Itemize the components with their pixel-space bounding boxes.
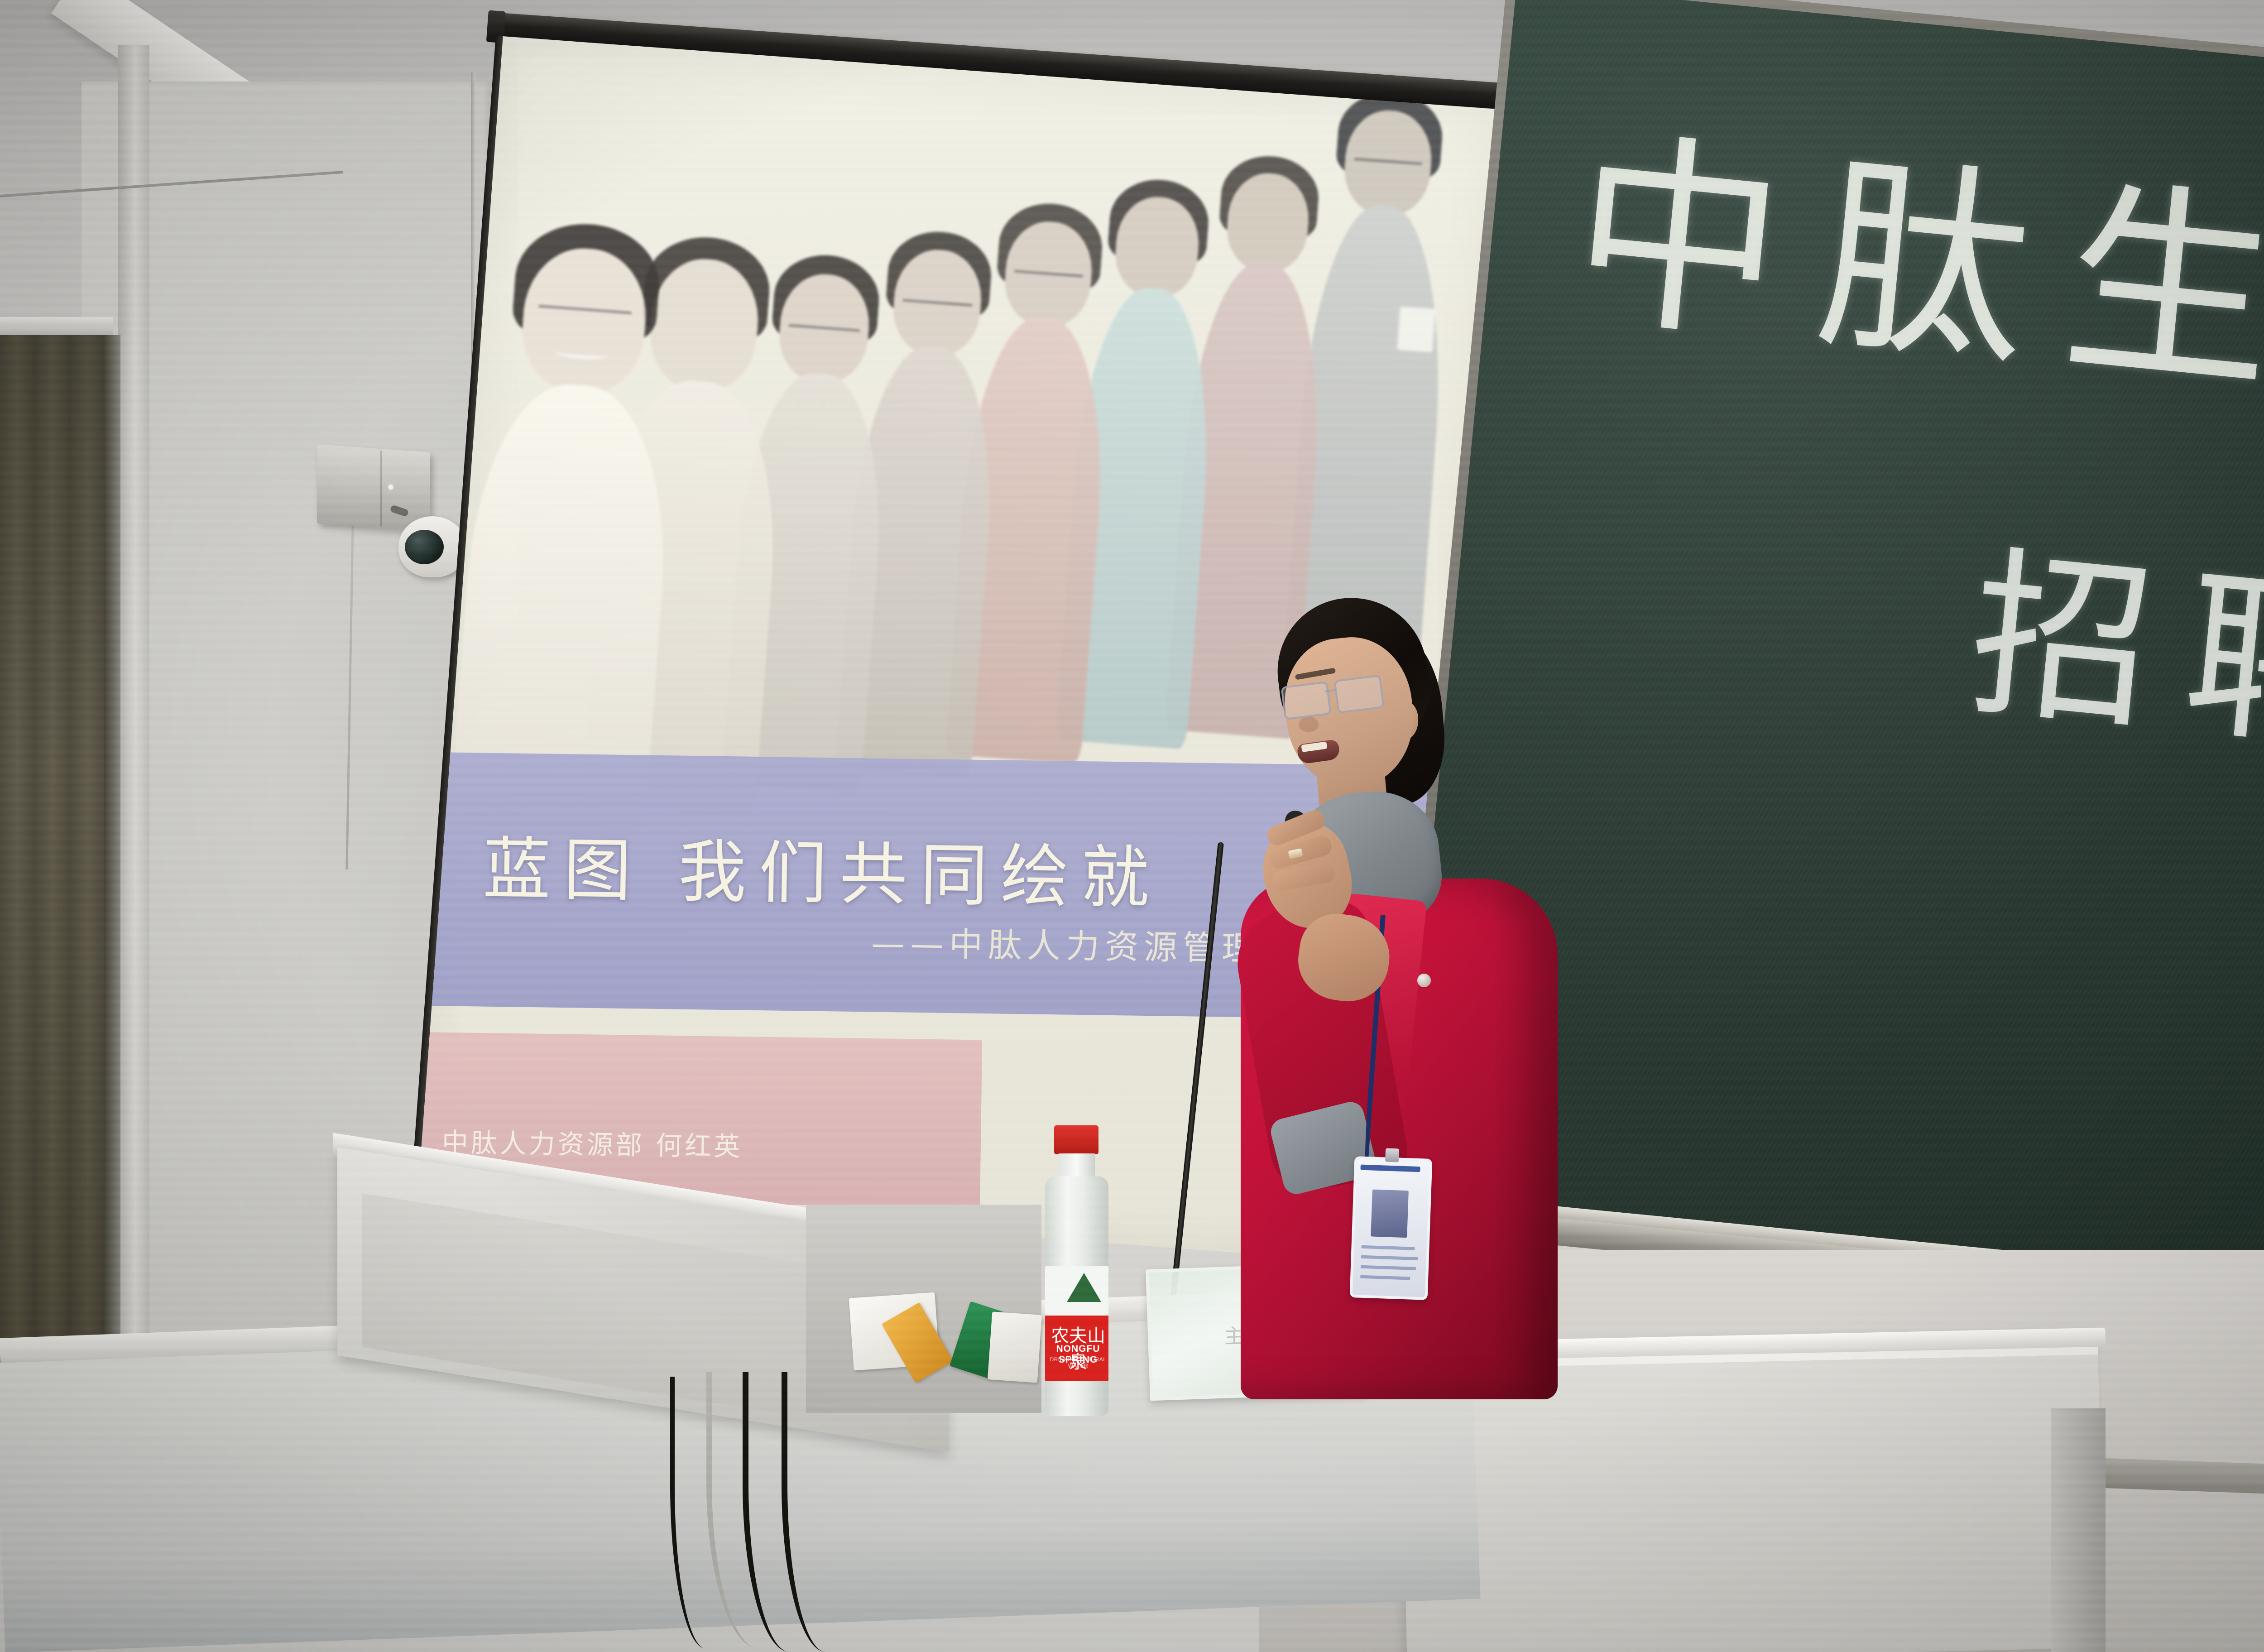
badge-text-line	[1361, 1265, 1416, 1270]
coat-button	[1417, 974, 1431, 987]
status-led-icon	[389, 485, 393, 490]
badge-clip-icon	[1385, 1148, 1399, 1162]
window-curtain[interactable]	[0, 335, 104, 1426]
mountain-logo-icon	[1067, 1273, 1101, 1302]
presenter	[1223, 598, 1657, 1395]
camera-housing-box	[317, 444, 430, 531]
bottle-brand-sub: DRINKING NATURAL WATER	[1048, 1356, 1108, 1369]
water-bottle[interactable]: 农夫山泉 NONGFU SPRING DRINKING NATURAL WATE…	[1037, 1125, 1116, 1415]
wall-pillar	[118, 45, 149, 1426]
classroom-photo: 蓝图 我们共同绘就 ——中肽人力资源管理 中肽人力资源部 何红英 中肽生化 招聘	[0, 0, 2264, 1652]
presenter-teeth	[1301, 741, 1328, 752]
slide-title: 蓝图 我们共同绘就	[482, 836, 1162, 913]
bottle-cap[interactable]	[1054, 1125, 1098, 1154]
slide-subtitle: ——中肽人力资源管理	[871, 927, 1261, 966]
paper-box-white-2[interactable]	[988, 1311, 1042, 1383]
employee-id-badge	[1350, 1156, 1433, 1300]
badge-photo	[1371, 1190, 1409, 1238]
badge-text-line	[1361, 1255, 1418, 1260]
housing-seam	[380, 451, 382, 526]
bottle-label: 农夫山泉 NONGFU SPRING DRINKING NATURAL WATE…	[1045, 1266, 1108, 1381]
lens-right	[1333, 675, 1384, 714]
chalk-text-line-1: 中肽生化	[1564, 127, 2264, 431]
bottle-neck	[1059, 1153, 1095, 1179]
lens-left	[1281, 681, 1331, 720]
badge-text-line	[1360, 1275, 1410, 1280]
desk-leg	[2051, 1408, 2106, 1652]
curtain-gap	[104, 335, 120, 1426]
presenter-nose	[1299, 716, 1319, 732]
badge-text-line	[1361, 1245, 1415, 1250]
chalk-text-line-2: 招聘	[1963, 543, 2264, 766]
badge-header-bar	[1360, 1165, 1420, 1172]
